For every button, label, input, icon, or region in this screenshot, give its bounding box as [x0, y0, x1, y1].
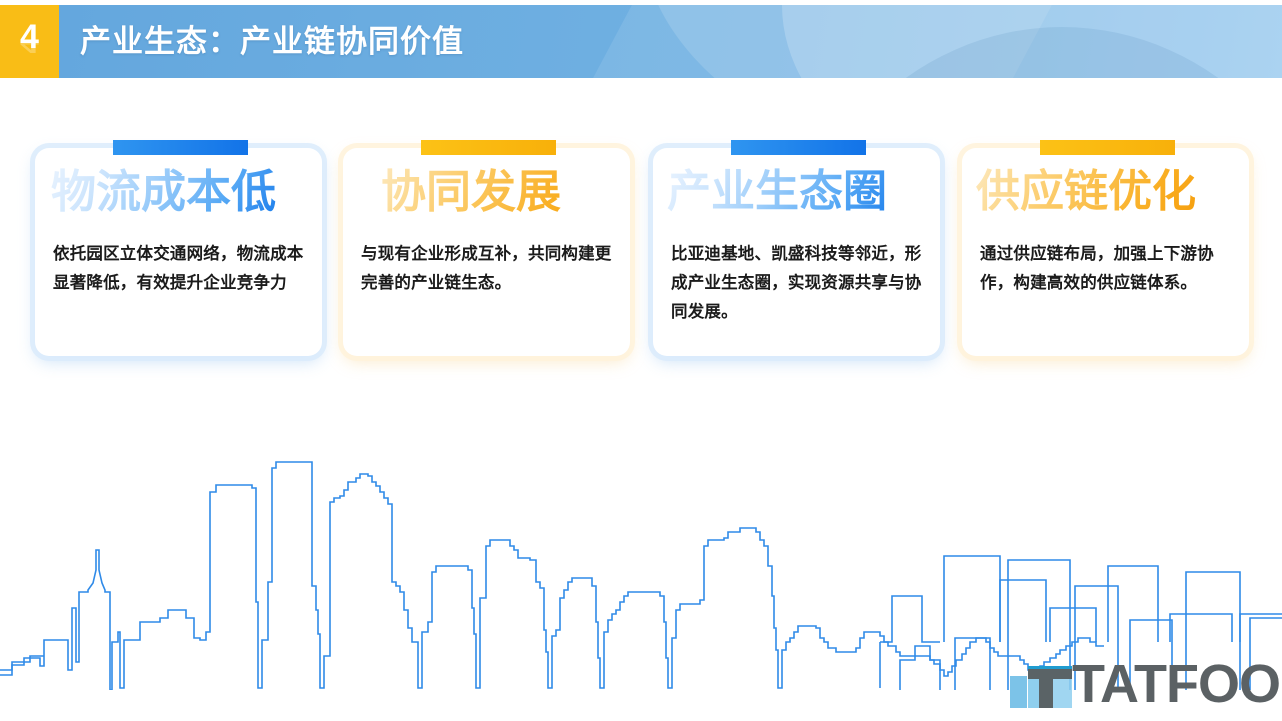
city-skyline-icon	[0, 370, 1282, 690]
city-skyline-decoration	[0, 370, 1282, 690]
feature-card-2[interactable]: 协同发展 与现有企业形成互补，共同构建更完善的产业链生态。	[343, 148, 630, 356]
page-title: 产业生态：产业链协同价值	[80, 21, 464, 63]
feature-card-3[interactable]: 产业生态圈 比亚迪基地、凯盛科技等邻近，形成产业生态圈，实现资源共享与协同发展。	[653, 148, 940, 356]
card-accent-bar	[1040, 140, 1175, 155]
slide-number-reflection: 4	[0, 35, 59, 57]
logo-wordmark: TATFOOK	[1072, 655, 1282, 713]
brand-logo: TATFOOK	[1010, 655, 1272, 713]
logo-block-left	[1010, 676, 1027, 708]
logo-letter-t-stem	[1039, 669, 1053, 708]
card-body-text: 与现有企业形成互补，共同构建更完善的产业链生态。	[361, 240, 613, 298]
logo-block-right	[1052, 676, 1072, 708]
slide-number-badge: 4 4	[0, 5, 59, 78]
card-title: 供应链优化	[976, 164, 1234, 220]
card-title: 协同发展	[381, 164, 639, 220]
card-accent-bar	[421, 140, 556, 155]
card-accent-bar	[113, 140, 248, 155]
feature-card-1[interactable]: 物流成本低 依托园区立体交通网络，物流成本显著降低，有效提升企业竞争力	[35, 148, 322, 356]
card-body-text: 依托园区立体交通网络，物流成本显著降低，有效提升企业竞争力	[53, 240, 305, 298]
feature-card-4[interactable]: 供应链优化 通过供应链布局，加强上下游协作，构建高效的供应链体系。	[962, 148, 1249, 356]
card-title: 产业生态圈	[667, 164, 925, 220]
card-body-text: 比亚迪基地、凯盛科技等邻近，形成产业生态圈，实现资源共享与协同发展。	[671, 240, 923, 327]
card-body-text: 通过供应链布局，加强上下游协作，构建高效的供应链体系。	[980, 240, 1232, 298]
slide-header: 4 4 产业生态：产业链协同价值	[0, 5, 1282, 78]
card-accent-bar	[731, 140, 866, 155]
feature-card-list: 物流成本低 依托园区立体交通网络，物流成本显著降低，有效提升企业竞争力 协同发展…	[0, 138, 1282, 368]
card-title: 物流成本低	[51, 164, 309, 220]
